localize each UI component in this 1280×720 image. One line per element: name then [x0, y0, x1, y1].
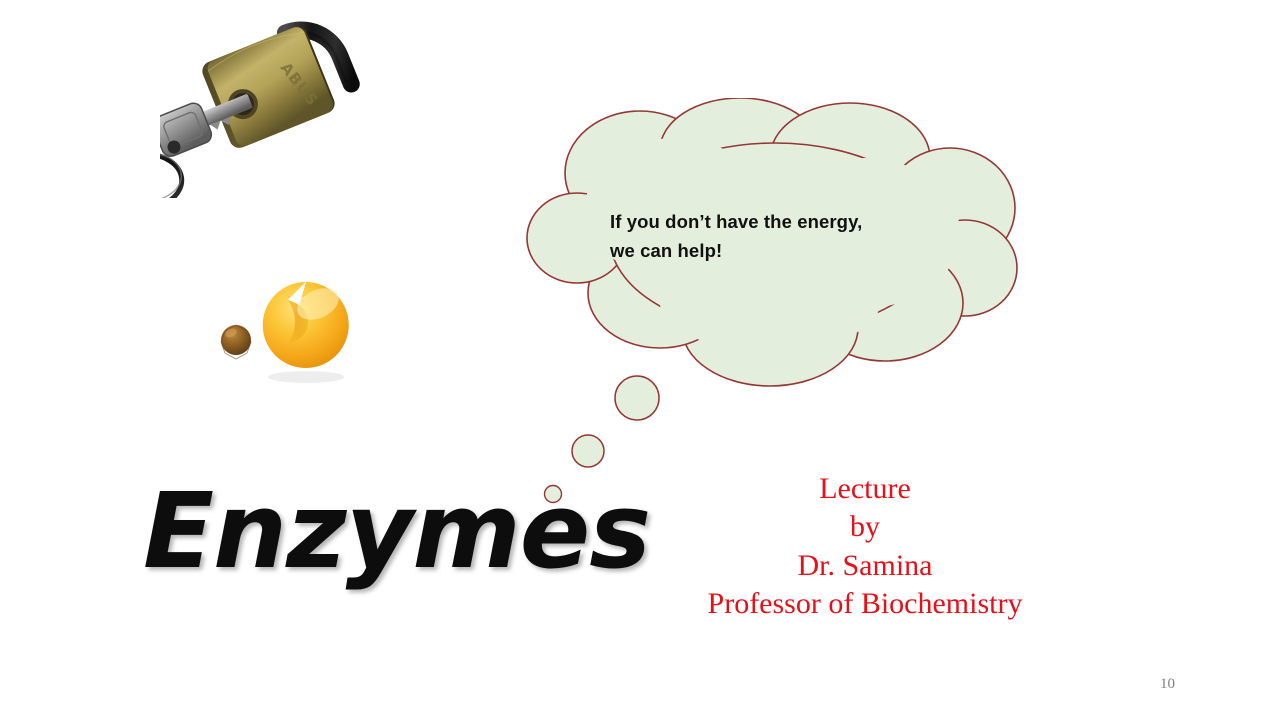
- lecture-line-3: Dr. Samina: [645, 547, 1085, 585]
- enzyme-substrate-graphic: [210, 272, 390, 390]
- thought-bubble-text: If you don’t have the energy, we can hel…: [610, 208, 940, 265]
- padlock-image: ABUS: [160, 8, 422, 198]
- slide-canvas: ABUS: [0, 0, 1280, 720]
- thought-bubble-line-1: If you don’t have the energy,: [610, 208, 940, 237]
- lecture-line-2: by: [645, 508, 1085, 546]
- enzyme-diagram-icon: [210, 272, 390, 390]
- thought-bubble-line-2: we can help!: [610, 237, 940, 266]
- lecture-line-1: Lecture: [645, 470, 1085, 508]
- slide-number: 10: [1160, 676, 1175, 693]
- page-title: Enzymes: [143, 479, 650, 583]
- lecture-line-4: Professor of Biochemistry: [645, 585, 1085, 623]
- lecture-credits: Lecture by Dr. Samina Professor of Bioch…: [645, 470, 1085, 624]
- padlock-icon: ABUS: [160, 8, 422, 198]
